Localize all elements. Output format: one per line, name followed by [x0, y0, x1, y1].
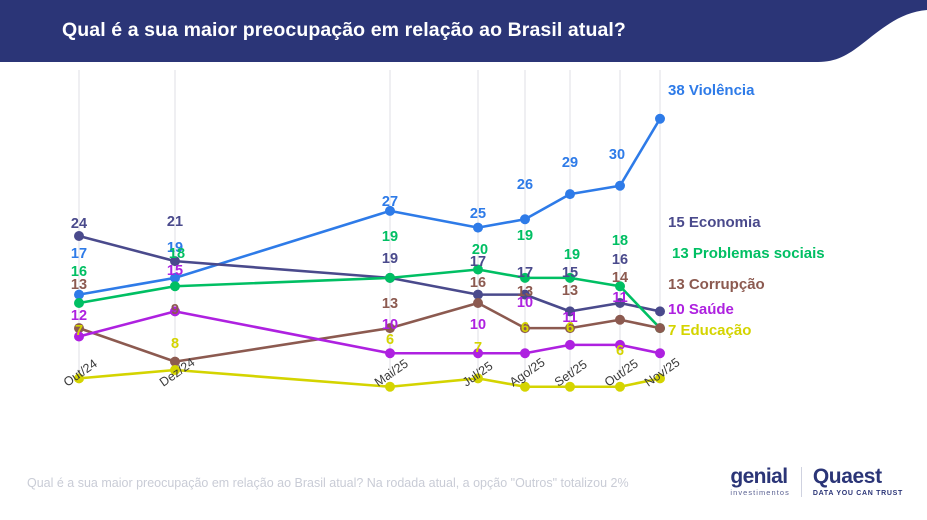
data-point[interactable] [520, 348, 530, 358]
point-value-label: 15 [562, 265, 578, 281]
point-value-label: 30 [609, 147, 625, 163]
header-band: Qual é a sua maior preocupação em relaçã… [0, 0, 927, 62]
point-value-label: 6 [616, 343, 624, 359]
data-point[interactable] [565, 340, 575, 350]
point-value-label: 11 [612, 290, 627, 306]
point-value-label: 19 [382, 229, 398, 245]
point-value-label: 27 [382, 194, 398, 210]
series-end-label: 38 Violência [668, 82, 754, 99]
point-value-label: 9 [171, 302, 179, 318]
point-value-label: 19 [517, 228, 533, 244]
series-end-label: 13 Problemas sociais [672, 245, 825, 262]
data-point[interactable] [74, 231, 84, 241]
chart-area: 2417161312721191815982719191310625201716… [0, 62, 927, 460]
point-value-label: 14 [612, 270, 628, 286]
point-value-label: 26 [517, 177, 533, 193]
point-value-label: 10 [382, 317, 398, 333]
data-point[interactable] [170, 281, 180, 291]
point-value-label: 16 [612, 252, 628, 268]
footer-note: Qual é a sua maior preocupação em relaçã… [27, 476, 629, 490]
data-point[interactable] [655, 323, 665, 333]
point-value-label: 17 [517, 265, 533, 281]
series-end-label: 7 Educação [668, 322, 751, 339]
data-point[interactable] [473, 298, 483, 308]
point-value-label: 21 [167, 214, 183, 230]
series-end-label: 10 Saúde [668, 301, 734, 318]
point-value-label: 13 [382, 296, 398, 312]
point-value-label: 8 [171, 336, 179, 352]
data-point[interactable] [615, 181, 625, 191]
point-value-label: 18 [612, 233, 628, 249]
point-value-label: 29 [562, 155, 578, 171]
data-point[interactable] [655, 348, 665, 358]
data-point[interactable] [473, 223, 483, 233]
data-point[interactable] [655, 114, 665, 124]
point-value-label: 6 [386, 332, 394, 348]
point-value-label: 7 [474, 340, 482, 356]
page-title: Qual é a sua maior preocupação em relaçã… [62, 19, 626, 42]
point-value-label: 17 [71, 246, 87, 262]
point-value-label: 25 [470, 206, 486, 222]
quaest-logo-main: Quaest [813, 466, 882, 487]
point-value-label: 16 [470, 275, 486, 291]
point-value-label: 7 [75, 323, 83, 339]
data-point[interactable] [385, 348, 395, 358]
point-value-label: 10 [517, 295, 533, 311]
point-value-label: 10 [470, 317, 486, 333]
point-value-label: 15 [167, 263, 183, 279]
point-value-label: 18 [169, 246, 185, 262]
point-value-label: 12 [71, 308, 87, 324]
point-value-label: 19 [382, 251, 398, 267]
series-end-label: 13 Corrupção [668, 276, 765, 293]
data-point[interactable] [565, 189, 575, 199]
data-point[interactable] [385, 273, 395, 283]
genial-logo-sub: investimentos [730, 489, 790, 496]
data-point[interactable] [520, 214, 530, 224]
genial-logo-main: genial [730, 466, 787, 487]
data-point[interactable] [655, 306, 665, 316]
point-value-label: 17 [470, 254, 486, 270]
genial-logo: genial investimentos [730, 466, 790, 496]
point-value-label: 6 [566, 320, 574, 336]
series-end-label: 15 Economia [668, 214, 761, 231]
point-value-label: 13 [71, 277, 87, 293]
point-value-label: 24 [71, 216, 87, 232]
point-value-label: 19 [564, 247, 580, 263]
logo-divider [801, 467, 802, 497]
quaest-logo: Quaest DATA YOU CAN TRUST [813, 466, 903, 497]
logo-group: genial investimentos Quaest DATA YOU CAN… [730, 466, 903, 497]
point-value-label: 13 [562, 283, 578, 299]
quaest-logo-sub: DATA YOU CAN TRUST [813, 490, 903, 497]
data-point[interactable] [615, 315, 625, 325]
data-point[interactable] [74, 298, 84, 308]
point-value-label: 6 [521, 320, 529, 336]
